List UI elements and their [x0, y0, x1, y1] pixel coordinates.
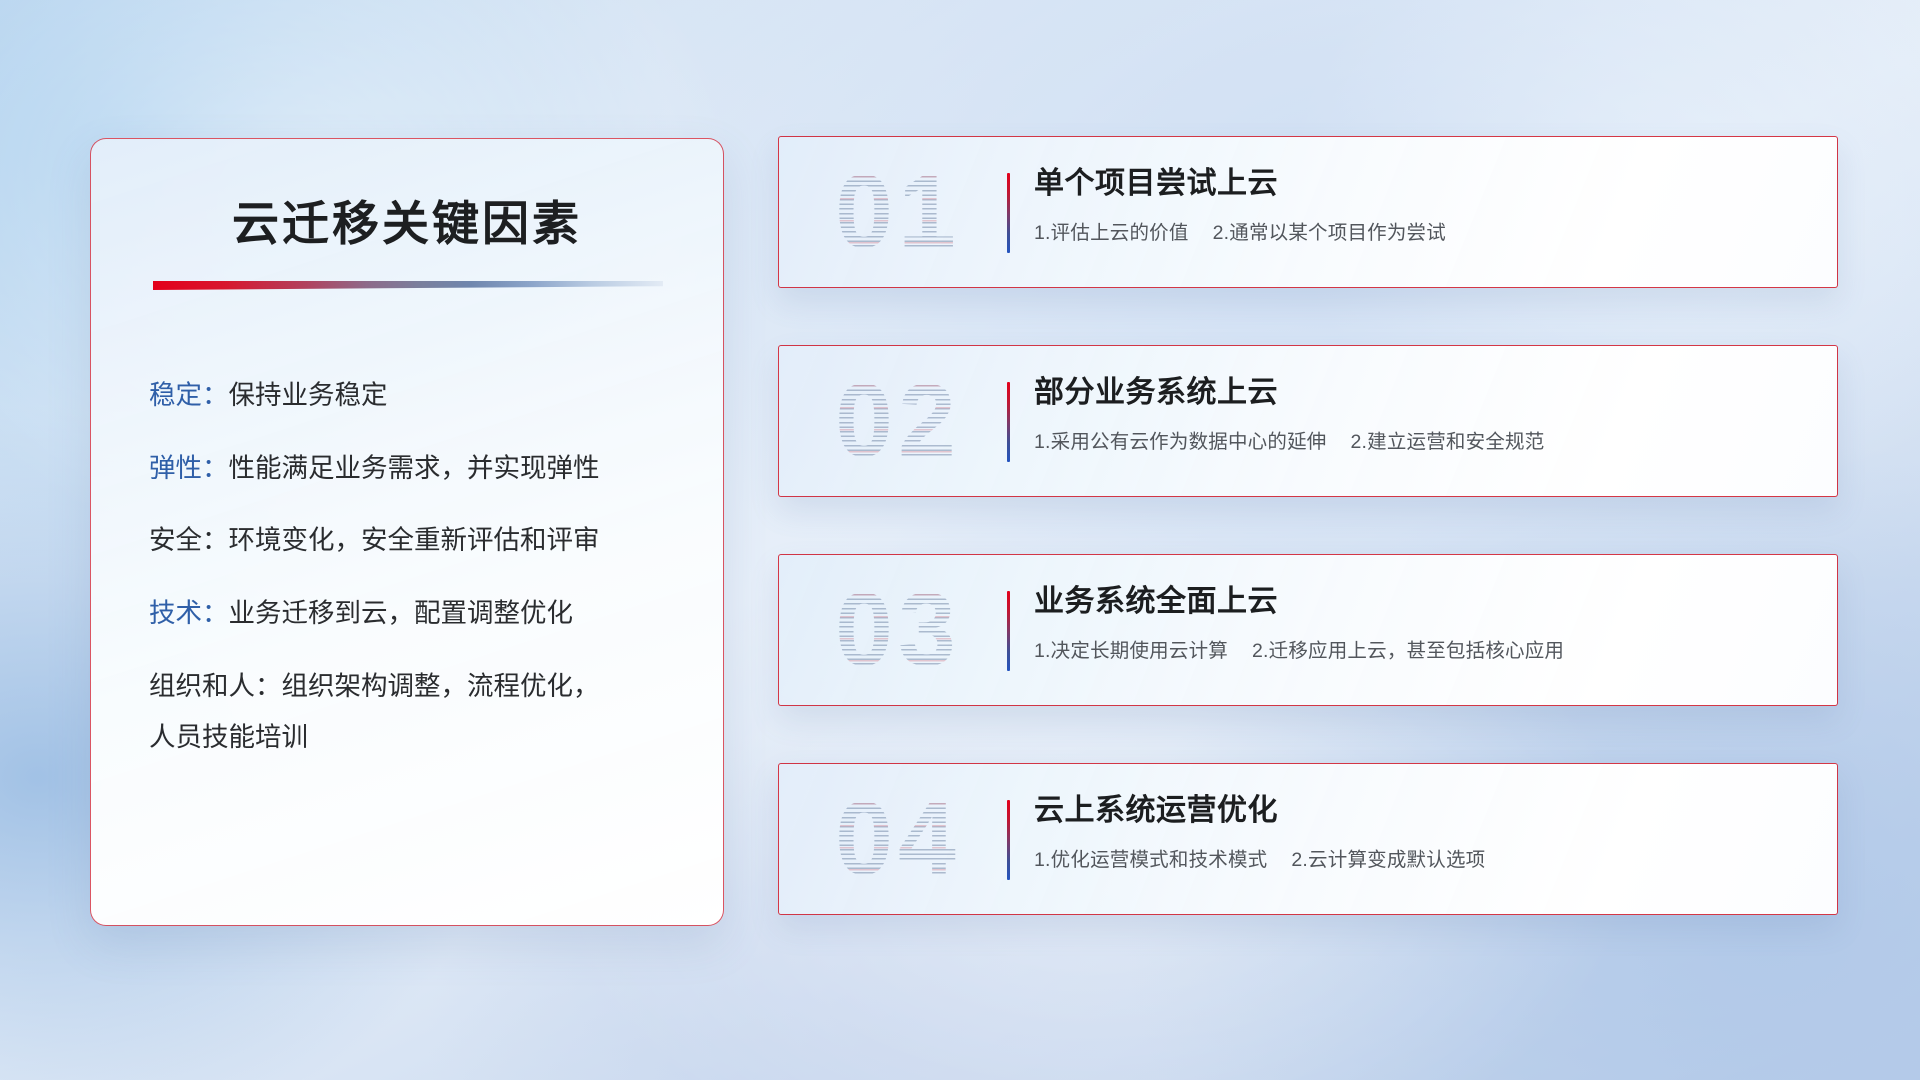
key-factors-card: 云迁移关键因素 稳定：保持业务稳定 弹性：性能满足业务需求，并实现弹性 安全：环… [90, 138, 724, 926]
step-subtitle: 1.评估上云的价值2.通常以某个项目作为尝试 [1034, 216, 1813, 245]
list-item-label: 稳定： [149, 380, 229, 410]
list-item-value: 业务迁移到云，配置调整优化 [229, 598, 574, 628]
list-item-value: 环境变化，安全重新评估和评审 [229, 525, 600, 555]
step-number-02: 02 02 [805, 363, 991, 479]
step-card-02[interactable]: 02 02 部分业务系统上云 1.采用公有云作为数据中心的延伸2.建立运营和安全… [778, 345, 1838, 497]
step-subtitle: 1.决定长期使用云计算2.迁移应用上云，甚至包括核心应用 [1034, 634, 1813, 663]
step-number-03: 03 03 [805, 572, 991, 688]
step-subtitle-part-2: 2.云计算变成默认选项 [1291, 849, 1485, 871]
migration-steps-list: 01 01 单个项目尝试上云 1.评估上云的价值2.通常以某个项目作为尝试 02… [778, 136, 1838, 915]
key-factors-list: 稳定：保持业务稳定 弹性：性能满足业务需求，并实现弹性 安全：环境变化，安全重新… [149, 377, 689, 757]
step-subtitle-part-2: 2.迁移应用上云，甚至包括核心应用 [1252, 640, 1564, 662]
step-subtitle-part-1: 1.决定长期使用云计算 [1034, 640, 1228, 662]
list-item-label: 技术： [149, 598, 229, 628]
list-item-label: 组织和人： [149, 671, 282, 701]
title-underline-gradient [153, 281, 663, 290]
step-subtitle-part-1: 1.优化运营模式和技术模式 [1034, 849, 1267, 871]
step-accent-bar [1007, 591, 1010, 671]
step-subtitle-part-1: 1.评估上云的价值 [1034, 222, 1189, 244]
step-subtitle-part-1: 1.采用公有云作为数据中心的延伸 [1034, 431, 1326, 453]
list-item-label: 安全： [149, 525, 229, 555]
list-item: 安全：环境变化，安全重新评估和评审 [149, 522, 689, 560]
step-number-01: 01 01 [805, 154, 991, 270]
list-item-value: 保持业务稳定 [229, 380, 388, 410]
step-accent-bar [1007, 382, 1010, 462]
list-item: 稳定：保持业务稳定 [149, 377, 689, 415]
step-subtitle: 1.优化运营模式和技术模式2.云计算变成默认选项 [1034, 843, 1813, 872]
step-text-block: 部分业务系统上云 1.采用公有云作为数据中心的延伸2.建立运营和安全规范 [1034, 374, 1813, 454]
list-item: 组织和人：组织架构调整，流程优化， [149, 668, 689, 706]
step-card-03[interactable]: 03 03 业务系统全面上云 1.决定长期使用云计算2.迁移应用上云，甚至包括核… [778, 554, 1838, 706]
step-title: 业务系统全面上云 [1034, 583, 1813, 621]
step-title: 单个项目尝试上云 [1034, 165, 1813, 203]
step-text-block: 云上系统运营优化 1.优化运营模式和技术模式2.云计算变成默认选项 [1034, 792, 1813, 872]
step-accent-bar [1007, 173, 1010, 253]
step-subtitle-part-2: 2.建立运营和安全规范 [1350, 431, 1544, 453]
list-item-value: 人员技能培训 [149, 722, 308, 752]
step-title: 云上系统运营优化 [1034, 792, 1813, 830]
list-item-value: 组织架构调整，流程优化， [282, 671, 600, 701]
step-card-04[interactable]: 04 04 云上系统运营优化 1.优化运营模式和技术模式2.云计算变成默认选项 [778, 763, 1838, 915]
list-item-continuation: 人员技能培训 [149, 719, 689, 757]
list-item: 弹性：性能满足业务需求，并实现弹性 [149, 450, 689, 488]
list-item: 技术：业务迁移到云，配置调整优化 [149, 595, 689, 633]
step-title: 部分业务系统上云 [1034, 374, 1813, 412]
step-card-01[interactable]: 01 01 单个项目尝试上云 1.评估上云的价值2.通常以某个项目作为尝试 [778, 136, 1838, 288]
step-text-block: 业务系统全面上云 1.决定长期使用云计算2.迁移应用上云，甚至包括核心应用 [1034, 583, 1813, 663]
step-accent-bar [1007, 800, 1010, 880]
step-text-block: 单个项目尝试上云 1.评估上云的价值2.通常以某个项目作为尝试 [1034, 165, 1813, 245]
list-item-value: 性能满足业务需求，并实现弹性 [229, 453, 600, 483]
step-subtitle-part-2: 2.通常以某个项目作为尝试 [1213, 222, 1446, 244]
page-title: 云迁移关键因素 [91, 185, 723, 254]
slide-canvas: 云迁移关键因素 稳定：保持业务稳定 弹性：性能满足业务需求，并实现弹性 安全：环… [0, 0, 1920, 1080]
step-number-04: 04 04 [805, 781, 991, 897]
list-item-label: 弹性： [149, 453, 229, 483]
step-subtitle: 1.采用公有云作为数据中心的延伸2.建立运营和安全规范 [1034, 425, 1813, 454]
